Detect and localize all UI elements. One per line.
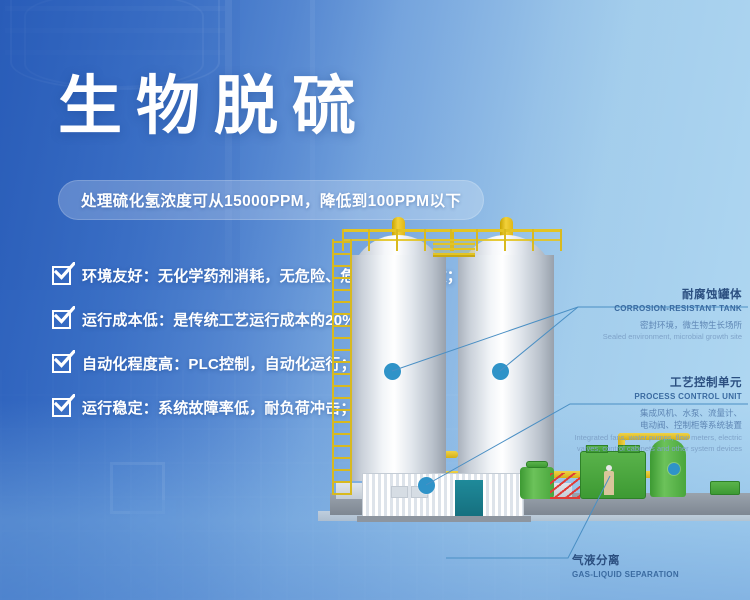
annotation-desc-en: Integrated fans, water pumps, flow meter… (508, 433, 742, 455)
vessel-marker-dot (668, 463, 680, 475)
container-window (391, 486, 408, 498)
feature-text: 自动化程度高：PLC控制，自动化运行； (82, 353, 356, 374)
walkway-between-tanks (433, 239, 475, 257)
green-small-tank (520, 467, 554, 499)
worker-figure (604, 465, 614, 495)
background-storage-tank (0, 0, 240, 290)
annotation-desc-cn: 集成风机、水泵、流量计、 电动阀、控制柜等系统装置 (508, 407, 742, 432)
marker-dot-control-unit[interactable] (418, 477, 435, 494)
checkbox-checked-icon (52, 398, 71, 417)
marker-dot-tank-left[interactable] (384, 363, 401, 380)
annotation-desc-cn: 密封环境，微生物生长场所 (512, 319, 742, 331)
green-skid-unit (710, 481, 740, 495)
access-ladder (332, 239, 352, 495)
access-stairs (550, 473, 580, 499)
subtitle-pill-label: 处理硫化氢浓度可从15000PPM，降低到100PPM以下 (81, 189, 461, 211)
checkbox-checked-icon (52, 354, 71, 373)
subtitle-pill: 处理硫化氢浓度可从15000PPM，降低到100PPM以下 (58, 180, 484, 220)
tank-left (350, 231, 446, 481)
annotation-title-en: CORROSION-RESISTANT TANK (512, 304, 742, 313)
container-door (455, 480, 483, 516)
background-pole (225, 0, 232, 300)
annotation-process-control-unit: 工艺控制单元 PROCESS CONTROL UNIT 集成风机、水泵、流量计、… (508, 374, 742, 454)
green-small-tank-lid (526, 461, 548, 468)
poster-canvas: 生物脱硫 处理硫化氢浓度可从15000PPM，降低到100PPM以下 环境友好：… (0, 0, 750, 600)
annotation-corrosion-resistant-tank: 耐腐蚀罐体 CORROSION-RESISTANT TANK 密封环境，微生物生… (512, 286, 742, 343)
annotation-title-en: PROCESS CONTROL UNIT (508, 392, 742, 401)
annotation-title-cn: 耐腐蚀罐体 (512, 286, 742, 302)
marker-dot-tank-right[interactable] (492, 363, 509, 380)
feature-text: 运行稳定：系统故障率低，耐负荷冲击； (82, 397, 356, 418)
annotation-gas-liquid-separation: 气液分离 GAS-LIQUID SEPARATION (572, 552, 748, 579)
control-container (362, 473, 524, 517)
checkbox-checked-icon (52, 266, 71, 285)
annotation-title-en: GAS-LIQUID SEPARATION (572, 570, 748, 579)
background-equipment-box (110, 462, 165, 514)
annotation-desc-en: Sealed environment, microbial growth sit… (512, 332, 742, 343)
checkbox-checked-icon (52, 310, 71, 329)
container-base (357, 516, 531, 522)
annotation-title-cn: 工艺控制单元 (508, 374, 742, 390)
page-title: 生物脱硫 (58, 74, 370, 138)
background-equipment-panel (130, 500, 176, 540)
annotation-title-cn: 气液分离 (572, 552, 748, 568)
